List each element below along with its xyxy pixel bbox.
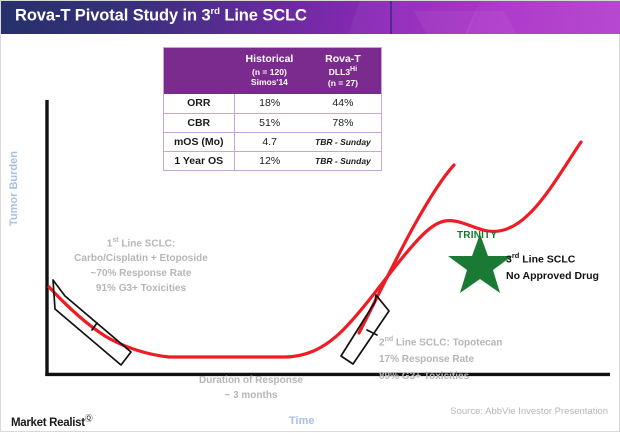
table-row-label: mOS (Mo) (164, 132, 234, 151)
results-table-col-rovat: Rova-T DLL3Hi (n = 27) (305, 48, 381, 94)
x-axis-label: Time (289, 415, 314, 427)
table-cell-rovat: TBR - Sunday (305, 132, 381, 151)
col-historical-ref: Simos'14 (236, 77, 303, 88)
results-table-col-historical: Historical (n = 120) Simos'14 (234, 48, 305, 94)
third-line-callout-row2: No Approved Drug (506, 268, 599, 284)
results-table: Historical (n = 120) Simos'14 Rova-T DLL… (164, 48, 381, 170)
third-line-callout-row1: 3rd Line SCLC (506, 248, 599, 268)
table-row-label: ORR (164, 94, 234, 113)
col-historical-title: Historical (245, 53, 293, 65)
y-axis-label: Tumor Burden (8, 151, 20, 226)
annotation-second-line-row2: 17% Response Rate (379, 351, 502, 368)
trinity-label: TRINITY (457, 230, 497, 241)
table-row: CBR51%78% (164, 113, 381, 132)
table-row-label: 1 Year OS (164, 151, 234, 170)
col-historical-n: (n = 120) (236, 67, 303, 78)
table-cell-rovat: 44% (305, 94, 381, 113)
annotation-duration-of-response: Duration of Response ~ 3 months (161, 373, 341, 403)
trinity-star-icon (448, 234, 512, 293)
table-cell-historical: 4.7 (234, 132, 305, 151)
source-attribution: Source: AbbVie Investor Presentation (450, 406, 608, 417)
annotation-duration-row1: Duration of Response (161, 373, 341, 388)
annotation-second-line-sclc: 2nd Line SCLC: Topotecan 17% Response Ra… (379, 331, 502, 385)
table-cell-historical: 12% (234, 151, 305, 170)
page-title: Rova-T Pivotal Study in 3rd Line SCLC (15, 6, 307, 26)
header-divider (390, 1, 392, 34)
annotation-second-line-row1: 2nd Line SCLC: Topotecan (379, 331, 502, 351)
annotation-first-line-row2: Carbo/Cisplatin + Etoposide (41, 251, 241, 266)
annotation-first-line-sclc: 1st Line SCLC: Carbo/Cisplatin + Etoposi… (41, 233, 241, 296)
results-table-corner-cell (164, 48, 234, 94)
slide-canvas: Rova-T Pivotal Study in 3rd Line SCLC (0, 0, 620, 432)
col-rovat-title: Rova-T (325, 53, 361, 65)
page-title-rest: Line SCLC (220, 7, 307, 25)
table-row: mOS (Mo)4.7TBR - Sunday (164, 132, 381, 151)
col-rovat-n: (n = 27) (307, 78, 379, 89)
logo-registered-mark-icon: Ⓠ (85, 414, 93, 423)
results-table-body: ORR18%44%CBR51%78%mOS (Mo)4.7TBR - Sunda… (164, 94, 381, 170)
third-line-text: Line SCLC (519, 254, 575, 266)
annotation-second-line-row3: 89% G3+ Toxicities (379, 368, 502, 385)
logo-text: Market Realist (11, 417, 85, 429)
page-title-main: Rova-T Pivotal Study in 3 (15, 7, 211, 25)
table-cell-rovat: 78% (305, 113, 381, 132)
table-row: ORR18%44% (164, 94, 381, 113)
curve-branch-path (359, 165, 454, 333)
market-realist-logo: Market RealistⓆ (11, 413, 92, 429)
col-rovat-hi: Hi (350, 66, 357, 73)
table-cell-historical: 51% (234, 113, 305, 132)
annotation-first-line-row4: 91% G3+ Toxicities (41, 281, 241, 296)
table-row: 1 Year OS12%TBR - Sunday (164, 151, 381, 170)
annotation-first-line-row3: ~70% Response Rate (41, 266, 241, 281)
annotation-first-line-text: Line SCLC: (119, 238, 176, 249)
annotation-second-line-text: Line SCLC: Topotecan (393, 337, 502, 348)
col-rovat-subtype: DLL3Hi (307, 66, 379, 77)
results-table-header-row: Historical (n = 120) Simos'14 Rova-T DLL… (164, 48, 381, 94)
table-cell-rovat: TBR - Sunday (305, 151, 381, 170)
results-table-head: Historical (n = 120) Simos'14 Rova-T DLL… (164, 48, 381, 94)
annotation-second-line-ord: nd (385, 336, 394, 343)
col-rovat-dll3: DLL3 (329, 67, 350, 77)
annotation-duration-row2: ~ 3 months (161, 388, 341, 403)
annotation-first-line-row1: 1st Line SCLC: (41, 233, 241, 251)
table-row-label: CBR (164, 113, 234, 132)
third-line-callout: 3rd Line SCLC No Approved Drug (506, 248, 599, 284)
page-title-ordinal: rd (211, 6, 220, 17)
table-cell-historical: 18% (234, 94, 305, 113)
